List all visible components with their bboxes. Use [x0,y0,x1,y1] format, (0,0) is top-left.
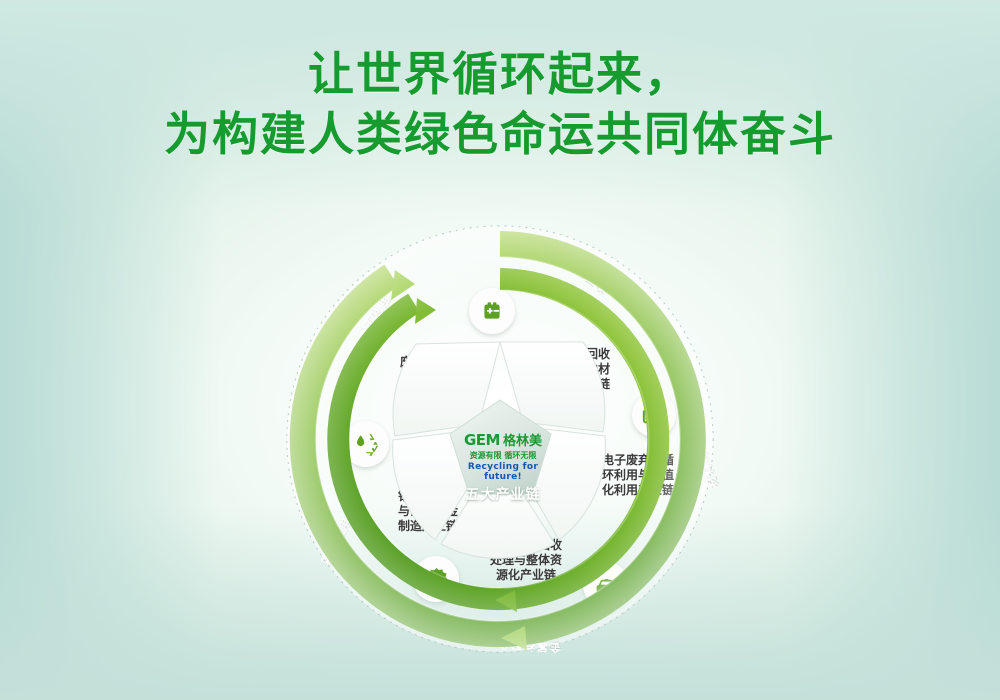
headline-line-1: 让世界循环起来， [0,44,1000,104]
brand-logo-row: GEM 格林美 [455,430,551,449]
ring-arrow-inner-top-left [415,298,436,324]
brand-logo: GEM 格林美 资源有限 循环无限 Recycling for future! [455,430,551,482]
center-caption: 五大产业链 [448,484,558,504]
brand-slogan-cn: 资源有限 循环无限 [455,450,551,461]
ring-arrow-top-left [391,270,415,300]
brand-mark: GEM [464,431,500,449]
page-headline: 让世界循环起来， 为构建人类绿色命运共同体奋斗 [0,44,1000,164]
brand-slogan-en: Recycling for future! [455,462,551,482]
brand-name-cn: 格林美 [503,430,542,449]
headline-line-2: 为构建人类绿色命运共同体奋斗 [0,104,1000,164]
